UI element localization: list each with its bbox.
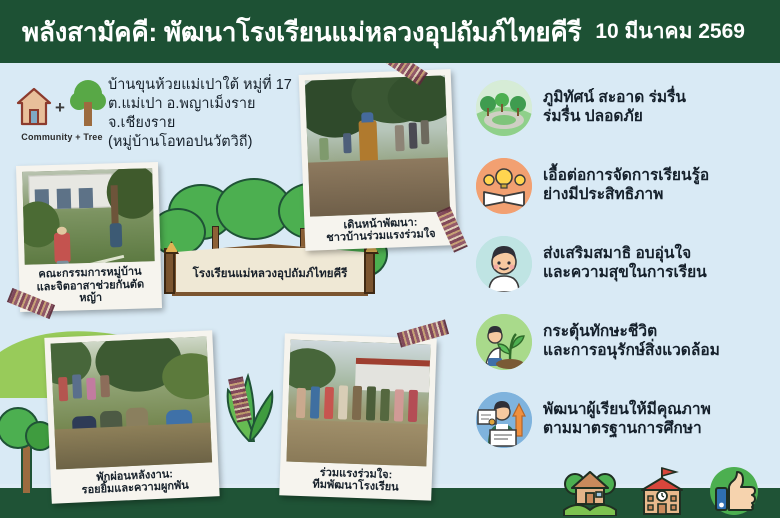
community-tree-logo: + Community + Tree bbox=[16, 74, 108, 142]
benefit-item-wellbeing[interactable]: ส่งเสริมสมาธิ อบอุ่นใจ และความสุขในการเร… bbox=[476, 230, 776, 298]
benefit-item-lifeskills[interactable]: กระตุ้นทักษะชีวิต และการอนุรักษ์สิ่งแวดล… bbox=[476, 308, 776, 376]
photo-image-grass-cutting bbox=[22, 168, 155, 265]
photo-card-villagers-walking[interactable]: เดินหน้าพัฒนา: ชาวบ้านร่วมแรงร่วมใจ bbox=[299, 69, 458, 251]
benefit-item-quality[interactable]: พัฒนาผู้เรียนให้มีคุณภาพ ตามมาตรฐานการศึ… bbox=[476, 386, 776, 454]
benefit-text: เอื้อต่อการจัดการเรียนรู้อ ย่างมีประสิทธ… bbox=[543, 167, 709, 204]
header-bar: พลังสามัคคี: พัฒนาโรงเรียนแม่หลวงอุปถัมภ… bbox=[0, 0, 780, 63]
tree-decor-icon bbox=[0, 398, 54, 494]
plus-sign: + bbox=[54, 98, 66, 128]
benefit-text: พัฒนาผู้เรียนให้มีคุณภาพ ตามมาตรฐานการศึ… bbox=[543, 401, 711, 438]
infographic-canvas: พลังสามัคคี: พัฒนาโรงเรียนแม่หลวงอุปถัมภ… bbox=[0, 0, 780, 518]
address-line-3: จ.เชียงราย bbox=[108, 114, 318, 133]
park-landscape-icon bbox=[476, 80, 532, 136]
thumbs-up-icon bbox=[706, 466, 762, 516]
sign-post-right bbox=[364, 248, 375, 294]
student-certificate-icon bbox=[476, 392, 532, 448]
benefits-list: ภูมิทัศน์ สะอาด ร่มรื่น ร่มรื่น ปลอดภัย … bbox=[476, 74, 776, 464]
footer-icon-row bbox=[552, 460, 762, 516]
photo-card-resting[interactable]: พักผ่อนหลังงาน: รอยยิ้มและความผูกพัน bbox=[44, 330, 219, 503]
photo-image-resting bbox=[51, 337, 213, 470]
school-name-text: โรงเรียนแม่หลวงอุปถัมภ์ไทยคีรี bbox=[193, 265, 348, 292]
benefit-text: กระตุ้นทักษะชีวิต และการอนุรักษ์สิ่งแวดล… bbox=[543, 323, 720, 360]
benefit-item-landscape[interactable]: ภูมิทัศน์ สะอาด ร่มรื่น ร่มรื่น ปลอดภัย bbox=[476, 74, 776, 142]
book-lightbulb-icon bbox=[476, 158, 532, 214]
address-line-1: บ้านขุนห้วยแม่เปาใต้ หมู่ที่ 17 bbox=[108, 76, 318, 95]
event-date: 10 มีนาคม 2569 bbox=[595, 21, 745, 42]
house-icon bbox=[16, 84, 52, 128]
school-building-icon bbox=[634, 466, 690, 516]
photo-image-villagers-walking bbox=[305, 75, 450, 216]
photo-card-team[interactable]: ร่วมแรงร่วมใจ: ทีมพัฒนาโรงเรียน bbox=[279, 333, 437, 500]
address-line-4: (หมู่บ้านโอทอปนวัตวิถี) bbox=[108, 133, 318, 152]
address-line-2: ต.แม่เปา อ.พญาเม็งราย bbox=[108, 95, 318, 114]
tree-icon bbox=[68, 78, 108, 128]
benefit-text: ส่งเสริมสมาธิ อบอุ่นใจ และความสุขในการเร… bbox=[543, 245, 707, 282]
photo-card-grass-cutting[interactable]: คณะกรรมการหมู่บ้าน และจิตอาสาช่วยกันตัดห… bbox=[16, 162, 162, 312]
benefit-item-learning[interactable]: เอื้อต่อการจัดการเรียนรู้อ ย่างมีประสิทธ… bbox=[476, 152, 776, 220]
smiling-student-icon bbox=[476, 236, 532, 292]
photo-caption: เดินหน้าพัฒนา: ชาวบ้านร่วมแรงร่วมใจ bbox=[310, 211, 451, 251]
village-address: บ้านขุนห้วยแม่เปาใต้ หมู่ที่ 17 ต.แม่เปา… bbox=[108, 76, 318, 153]
sign-board: โรงเรียนแม่หลวงอุปถัมภ์ไทยคีรี bbox=[172, 244, 368, 296]
logo-caption: Community + Tree bbox=[16, 132, 108, 142]
planting-child-icon bbox=[476, 314, 532, 370]
sign-post-left bbox=[164, 248, 175, 294]
page-title: พลังสามัคคี: พัฒนาโรงเรียนแม่หลวงอุปถัมภ… bbox=[22, 19, 581, 45]
photo-caption: พักผ่อนหลังงาน: รอยยิ้มและความผูกพัน bbox=[56, 462, 213, 503]
benefit-text: ภูมิทัศน์ สะอาด ร่มรื่น ร่มรื่น ปลอดภัย bbox=[543, 89, 686, 126]
photo-image-team bbox=[286, 340, 430, 467]
house-with-trees-icon bbox=[562, 466, 618, 516]
photo-caption: ร่วมแรงร่วมใจ: ทีมพัฒนาโรงเรียน bbox=[285, 461, 426, 500]
